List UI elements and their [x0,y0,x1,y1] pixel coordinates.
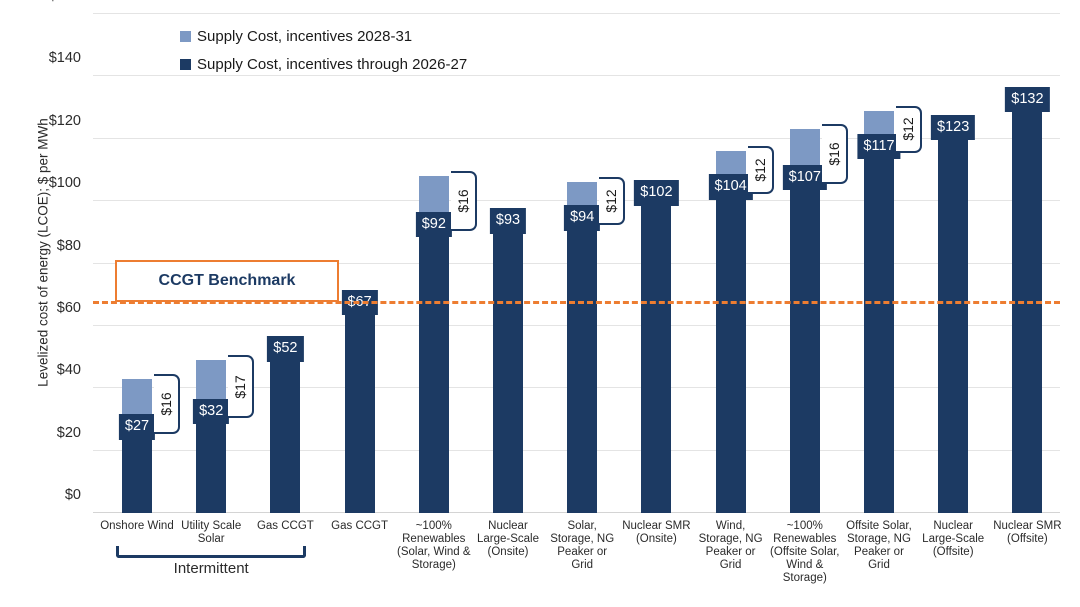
bar-group[interactable]: $27 [122,379,152,513]
x-axis-label-line: Storage) [768,572,842,585]
x-axis-label-line: Solar, [545,520,619,533]
intermittent-bracket-label: Intermittent [116,560,306,577]
bar-group[interactable]: $67 [345,304,375,513]
x-axis-label-line: Peaker or Grid [545,546,619,572]
intermittent-bracket [116,546,306,558]
x-axis-label-line: Offsite Solar, [842,520,916,533]
bar-segment-base[interactable] [493,223,523,513]
increment-bracket: $12 [599,177,625,224]
bar-group[interactable]: $32 [196,360,226,513]
increment-bracket-label: $12 [900,118,916,141]
increment-bracket-label: $16 [826,143,842,166]
bar-value-label: $117 [857,134,900,160]
x-axis-label-line: Nuclear [916,520,990,533]
bar-segment-base[interactable] [716,189,746,513]
y-axis-tick-label: $60 [23,300,81,316]
x-axis-label-line: Renewables [397,533,471,546]
x-axis-label: Nuclear SMR(Offsite) [990,520,1064,546]
x-axis-label-line: (Onsite) [471,546,545,559]
increment-bracket: $16 [451,171,477,231]
bar-group[interactable]: $104 [716,151,746,513]
bar-segment-base[interactable] [122,429,152,513]
x-axis-label: Gas CCGT [323,520,397,533]
increment-bracket: $12 [896,106,922,153]
x-axis-label: ~100%Renewables(Offsite Solar,Wind &Stor… [768,520,842,585]
increment-bracket: $17 [228,355,254,418]
bar-segment-base[interactable] [864,148,894,513]
bar-group[interactable]: $107 [790,129,820,513]
x-axis-label-line: Nuclear SMR [990,520,1064,533]
lcoe-bar-chart: Levelized cost of energy (LCOE); $ per M… [0,0,1080,607]
increment-bracket: $16 [154,374,180,434]
x-axis-label-line: Gas CCGT [248,520,322,533]
legend-label: Supply Cost, incentives 2028-31 [197,28,412,45]
bar-value-label: $27 [119,414,155,440]
x-axis-label-line: (Solar, Wind & [397,546,471,559]
y-axis-tick-label: $0 [23,487,81,503]
increment-bracket: $12 [748,146,774,193]
bar-value-label: $102 [634,180,678,206]
bar-segment-base[interactable] [196,413,226,513]
x-axis-label-line: Renewables [768,533,842,546]
x-axis-label: NuclearLarge-Scale(Offsite) [916,520,990,559]
x-axis-label-line: Large-Scale [916,533,990,546]
y-axis-tick-label: $20 [23,425,81,441]
bar-segment-base[interactable] [641,195,671,513]
bar-group[interactable]: $123 [938,129,968,513]
legend-swatch-icon [180,59,191,70]
bar-value-label: $52 [267,336,303,362]
plot-area: $0$20$40$60$80$100$120$140$160 $27$16$32… [93,14,1060,513]
bar-segment-base[interactable] [419,226,449,513]
bar-value-label: $123 [931,115,975,141]
increment-bracket-label: $16 [455,189,471,212]
x-axis-label-line: (Offsite) [916,546,990,559]
x-axis-label-line: (Onsite) [619,533,693,546]
bar-segment-base[interactable] [270,351,300,513]
x-axis-label: Nuclear SMR(Onsite) [619,520,693,546]
bar-value-label: $92 [416,212,452,238]
x-axis-label-line: Utility Scale [174,520,248,533]
bar-segment-base[interactable] [345,304,375,513]
bar-group[interactable]: $52 [270,351,300,513]
bar-value-label: $132 [1005,87,1049,113]
x-axis-label-line: Storage, NG [842,533,916,546]
x-axis-label-line: ~100% [768,520,842,533]
x-axis-label-line: Large-Scale [471,533,545,546]
bar-group[interactable]: $117 [864,111,894,513]
x-axis-label: Onshore Wind [100,520,174,533]
legend-item[interactable]: Supply Cost, incentives through 2026-27 [180,56,467,73]
x-axis-label-line: Gas CCGT [323,520,397,533]
x-axis-label: Utility ScaleSolar [174,520,248,546]
increment-bracket-label: $12 [752,158,768,181]
legend-item[interactable]: Supply Cost, incentives 2028-31 [180,28,467,45]
benchmark-callout: CCGT Benchmark [115,260,339,302]
bar-value-label: $94 [564,205,600,231]
x-axis-label-line: (Offsite) [990,533,1064,546]
bar-value-label: $107 [783,165,827,191]
x-axis-label-line: Nuclear [471,520,545,533]
x-axis-label: ~100%Renewables(Solar, Wind &Storage) [397,520,471,572]
y-axis-tick-label: $140 [23,50,81,66]
bar-value-label: $104 [708,174,752,200]
bar-group[interactable]: $93 [493,223,523,513]
bar-segment-base[interactable] [790,179,820,513]
bar-segment-base[interactable] [567,220,597,513]
x-axis-label-line: ~100% [397,520,471,533]
x-axis-label-line: Storage) [397,559,471,572]
x-axis-label: Gas CCGT [248,520,322,533]
x-axis-label-line: Solar [174,533,248,546]
x-axis-label-line: Onshore Wind [100,520,174,533]
increment-bracket-label: $17 [232,375,248,398]
x-axis-label-line: (Offsite Solar, [768,546,842,559]
y-axis-tick-label: $120 [23,113,81,129]
x-axis-label: Offsite Solar,Storage, NGPeaker or Grid [842,520,916,572]
x-axis-label-line: Peaker or Grid [694,546,768,572]
bar-segment-base[interactable] [938,129,968,513]
increment-bracket-label: $16 [158,392,174,415]
legend-label: Supply Cost, incentives through 2026-27 [197,56,467,73]
y-axis-tick-label: $160 [23,0,81,4]
bar-group[interactable]: $102 [641,195,671,513]
y-axis-tick-label: $80 [23,238,81,254]
chart-legend: Supply Cost, incentives 2028-31Supply Co… [180,28,467,84]
x-axis-label-line: Wind, [694,520,768,533]
y-axis-tick-label: $100 [23,175,81,191]
benchmark-label: CCGT Benchmark [159,272,296,290]
x-axis-label: Wind,Storage, NGPeaker or Grid [694,520,768,572]
bar-value-label: $32 [193,399,229,425]
bar-group[interactable]: $94 [567,182,597,513]
legend-swatch-icon [180,31,191,42]
x-axis-label-line: Nuclear SMR [619,520,693,533]
bar-group[interactable]: $92 [419,176,449,513]
bar-group[interactable]: $132 [1012,101,1042,513]
x-axis-label: Solar,Storage, NGPeaker or Grid [545,520,619,572]
x-axis-label: NuclearLarge-Scale(Onsite) [471,520,545,559]
increment-bracket-label: $12 [603,189,619,212]
bar-value-label: $93 [490,208,526,234]
x-axis-label-line: Storage, NG [545,533,619,546]
x-axis-label-line: Wind & [768,559,842,572]
x-axis-label-line: Peaker or Grid [842,546,916,572]
bar-segment-base[interactable] [1012,101,1042,513]
x-axis-label-line: Storage, NG [694,533,768,546]
y-axis-tick-label: $40 [23,362,81,378]
increment-bracket: $16 [822,124,848,184]
